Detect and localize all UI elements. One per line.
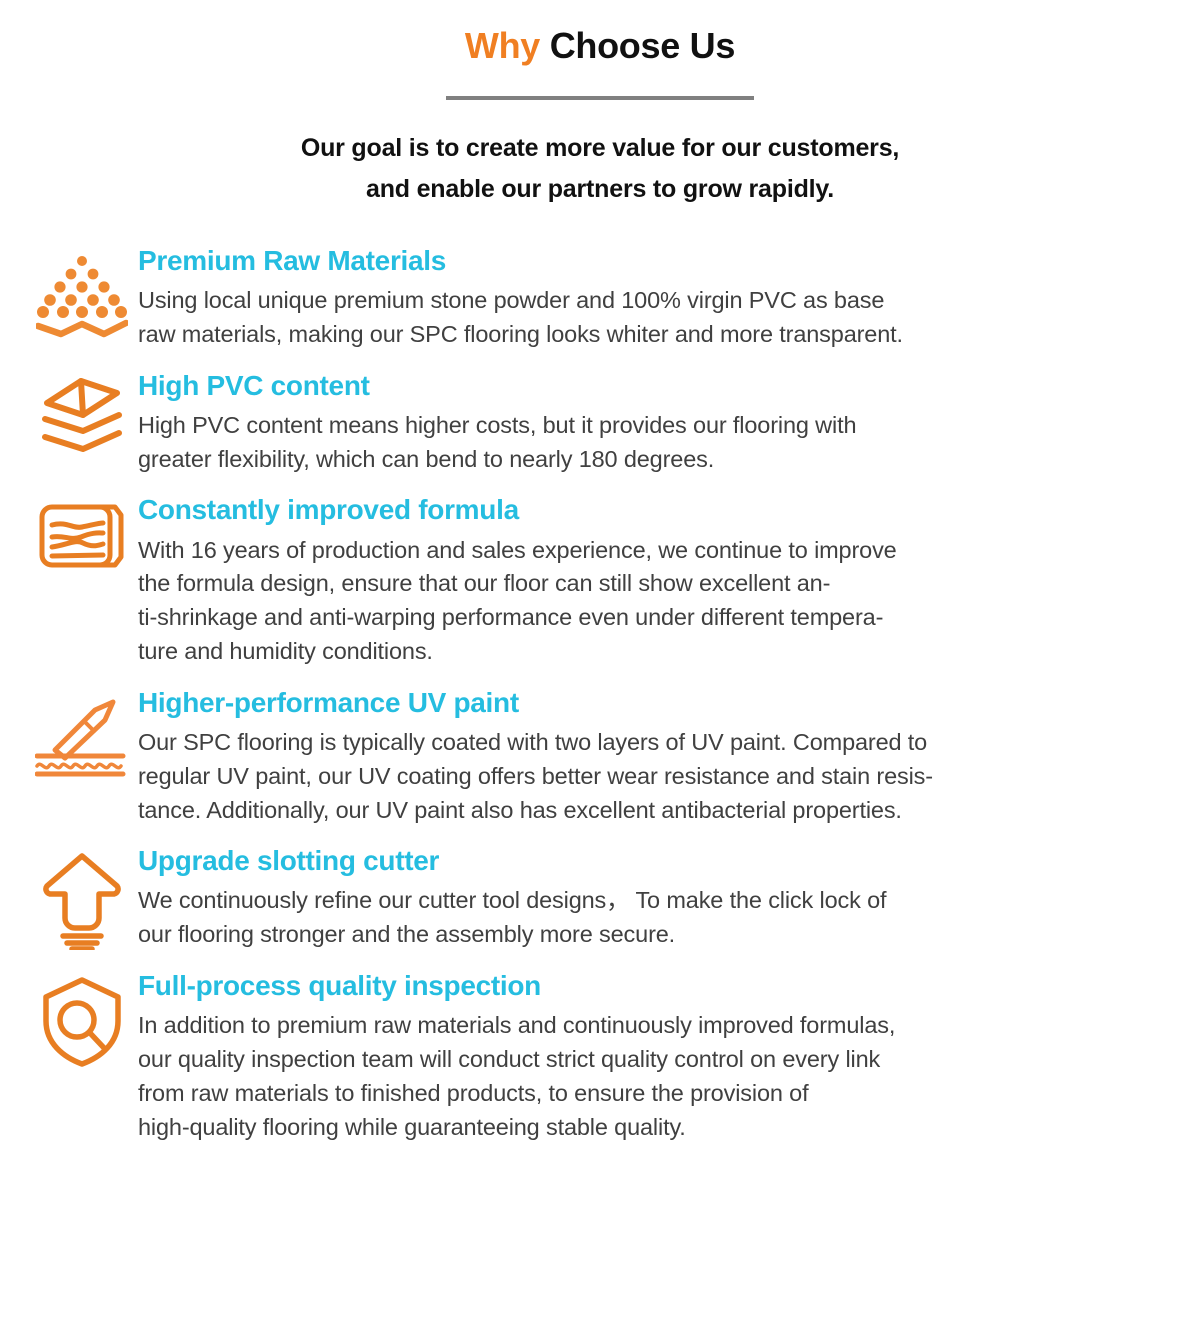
feature-text-line: tance. Additionally, our UV paint also h…	[138, 794, 1126, 828]
feature-text-line: With 16 years of production and sales ex…	[138, 534, 1126, 568]
feature-text-line: In addition to premium raw materials and…	[138, 1009, 1126, 1043]
title-divider	[446, 96, 754, 100]
feature-text: Our SPC flooring is typically coated wit…	[138, 726, 1126, 827]
feature-text: We continuously refine our cutter tool d…	[138, 884, 1126, 952]
stone-powder-icon	[26, 244, 138, 340]
feature-text: In addition to premium raw materials and…	[138, 1009, 1126, 1144]
feature-item: High PVC content High PVC content means …	[26, 369, 1174, 477]
feature-text-line: ture and humidity conditions.	[138, 635, 1126, 669]
feature-body: Upgrade slotting cutter We continuously …	[138, 844, 1174, 952]
feature-title: Upgrade slotting cutter	[138, 844, 1126, 877]
feature-title: Constantly improved formula	[138, 493, 1126, 526]
feature-text-line: from raw materials to finished products,…	[138, 1077, 1126, 1111]
feature-text: High PVC content means higher costs, but…	[138, 409, 1126, 477]
page-title: Why Choose Us	[0, 26, 1200, 66]
feature-title: Premium Raw Materials	[138, 244, 1126, 277]
feature-title: Higher-performance UV paint	[138, 686, 1126, 719]
page-title-plain: Choose Us	[550, 25, 735, 66]
subtitle-line-2: and enable our partners to grow rapidly.	[0, 169, 1200, 210]
feature-text-line: regular UV paint, our UV coating offers …	[138, 760, 1126, 794]
uv-paint-brush-icon	[26, 686, 138, 782]
feature-item: Higher-performance UV paint Our SPC floo…	[26, 686, 1174, 828]
feature-body: Full-process quality inspection In addit…	[138, 969, 1174, 1144]
feature-list: Premium Raw Materials Using local unique…	[0, 244, 1200, 1144]
feature-text-line: our flooring stronger and the assembly m…	[138, 918, 1126, 952]
feature-text-line: We continuously refine our cutter tool d…	[138, 884, 1126, 918]
feature-body: High PVC content High PVC content means …	[138, 369, 1174, 477]
page-subtitle: Our goal is to create more value for our…	[0, 128, 1200, 211]
feature-body: Constantly improved formula With 16 year…	[138, 493, 1174, 668]
feature-text: With 16 years of production and sales ex…	[138, 534, 1126, 669]
shield-magnifier-icon	[26, 969, 138, 1065]
feature-item: Upgrade slotting cutter We continuously …	[26, 844, 1174, 952]
feature-text-line: High PVC content means higher costs, but…	[138, 409, 1126, 443]
feature-title: High PVC content	[138, 369, 1126, 402]
layered-sheets-icon	[26, 369, 138, 465]
feature-text-line: greater flexibility, which can bend to n…	[138, 443, 1126, 477]
feature-text-line: our quality inspection team will conduct…	[138, 1043, 1126, 1077]
feature-body: Higher-performance UV paint Our SPC floo…	[138, 686, 1174, 828]
feature-text: Using local unique premium stone powder …	[138, 284, 1126, 352]
feature-body: Premium Raw Materials Using local unique…	[138, 244, 1174, 352]
feature-text-line: raw materials, making our SPC flooring l…	[138, 318, 1126, 352]
feature-item: Constantly improved formula With 16 year…	[26, 493, 1174, 668]
why-choose-us-page: Why Choose Us Our goal is to create more…	[0, 0, 1200, 1334]
feature-item: Premium Raw Materials Using local unique…	[26, 244, 1174, 352]
feature-text-line: high-quality flooring while guaranteeing…	[138, 1111, 1126, 1145]
feature-text-line: ti-shrinkage and anti-warping performanc…	[138, 601, 1126, 635]
page-header: Why Choose Us Our goal is to create more…	[0, 0, 1200, 210]
subtitle-line-1: Our goal is to create more value for our…	[0, 128, 1200, 169]
feature-text-line: the formula design, ensure that our floo…	[138, 567, 1126, 601]
wood-plank-icon	[26, 493, 138, 589]
feature-text-line: Our SPC flooring is typically coated wit…	[138, 726, 1126, 760]
page-title-accent: Why	[465, 25, 540, 66]
upgrade-arrow-icon	[26, 844, 138, 940]
feature-item: Full-process quality inspection In addit…	[26, 969, 1174, 1144]
feature-text-line: Using local unique premium stone powder …	[138, 284, 1126, 318]
feature-title: Full-process quality inspection	[138, 969, 1126, 1002]
